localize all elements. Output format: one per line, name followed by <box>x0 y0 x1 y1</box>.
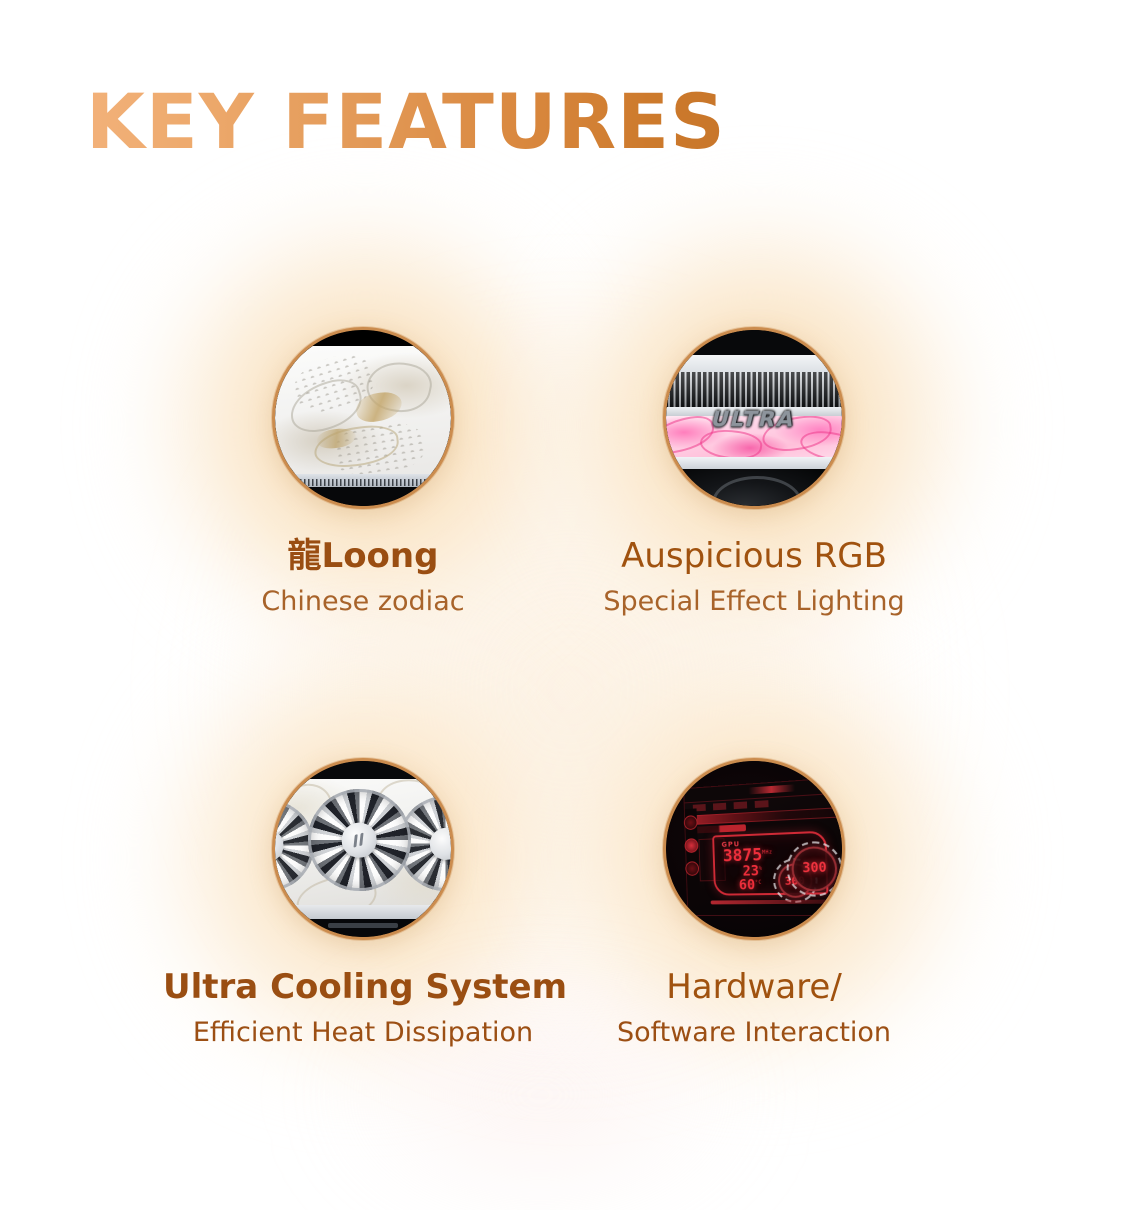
rgb-white-band-bottom <box>666 457 842 469</box>
software-dashboard-art: GPU 3875MHz 23% 60°C 300 300 <box>666 761 842 937</box>
dragon-shroud-art <box>275 330 451 506</box>
key-features-page: { "page": { "title": "KEY FEATURES", "ba… <box>0 0 1125 1182</box>
shroud-bottom-shadow <box>275 487 451 506</box>
feature-item-ultra-cooling[interactable]: Ultra Cooling System Efficient Heat Diss… <box>163 758 563 1049</box>
feature-image-clip <box>275 761 451 937</box>
feature-image-loong[interactable] <box>272 327 454 509</box>
feature-image-clip <box>275 330 451 506</box>
feature-image-clip: ULTRA <box>666 330 842 506</box>
feature-grid: 龍Loong Chinese zodiac ULTRA <box>0 0 1125 1182</box>
sidebar-icon-2[interactable] <box>685 839 699 854</box>
sidebar-icon-1[interactable] <box>684 816 698 831</box>
heatsink-fins <box>666 372 842 407</box>
dashboard-dial-big: 300 <box>791 846 838 892</box>
dashboard-reading-clock: 3875MHz <box>723 847 773 865</box>
dashboard-reading-load-unit: % <box>759 866 763 872</box>
fan-hub-logo-icon <box>352 833 367 848</box>
feature-title-hardware-software: Hardware/ <box>554 968 954 1007</box>
fan-center <box>308 789 410 891</box>
dashboard-reading-temp-unit: °C <box>755 880 762 886</box>
rgb-white-band-top <box>666 355 842 373</box>
feature-title-ultra-cooling: Ultra Cooling System <box>163 968 563 1007</box>
rgb-band-art: ULTRA <box>666 330 842 506</box>
rgb-top-shadow <box>666 330 842 355</box>
dashboard-reading-temp-value: 60 <box>739 877 756 893</box>
dashboard-gauge-card: GPU 3875MHz 23% 60°C 300 300 <box>712 831 829 896</box>
rgb-fan-shadow <box>666 469 842 506</box>
feature-item-loong[interactable]: 龍Loong Chinese zodiac <box>163 327 563 618</box>
feature-image-clip: GPU 3875MHz 23% 60°C 300 300 <box>666 761 842 937</box>
dashboard-footer-bar <box>711 900 842 905</box>
feature-item-auspicious-rgb[interactable]: ULTRA Auspicious RGB Special Effect Ligh… <box>554 327 954 618</box>
feature-image-hardware-software[interactable]: GPU 3875MHz 23% 60°C 300 300 <box>663 758 845 940</box>
dashboard-reading-temp: 60°C <box>739 878 763 892</box>
feature-item-hardware-software[interactable]: GPU 3875MHz 23% 60°C 300 300 <box>554 758 954 1049</box>
ultra-brand-logo: ULTRA <box>677 406 831 430</box>
feature-title-loong: 龍Loong <box>163 537 563 576</box>
fan-baseplate <box>275 905 451 919</box>
feature-subtitle-loong: Chinese zodiac <box>163 586 563 618</box>
feature-image-ultra-cooling[interactable] <box>272 758 454 940</box>
sidebar-icon-3[interactable] <box>686 862 700 877</box>
feature-image-auspicious-rgb[interactable]: ULTRA <box>663 327 845 509</box>
dashboard-sidebar[interactable] <box>685 809 699 898</box>
dashboard-panel: GPU 3875MHz 23% 60°C 300 300 <box>683 776 842 916</box>
feature-subtitle-hardware-software: Software Interaction <box>554 1017 954 1049</box>
dashboard-logo-icon <box>748 785 795 795</box>
feature-subtitle-ultra-cooling: Efficient Heat Dissipation <box>163 1017 563 1049</box>
dashboard-button-pair[interactable] <box>695 824 746 833</box>
gpu-bracket <box>328 923 398 928</box>
feature-subtitle-auspicious-rgb: Special Effect Lighting <box>554 586 954 618</box>
feature-title-auspicious-rgb: Auspicious RGB <box>554 537 954 576</box>
cooling-fan-art <box>275 761 451 937</box>
dashboard-reading-clock-unit: MHz <box>762 849 773 855</box>
page-title: KEY FEATURES <box>86 84 726 160</box>
